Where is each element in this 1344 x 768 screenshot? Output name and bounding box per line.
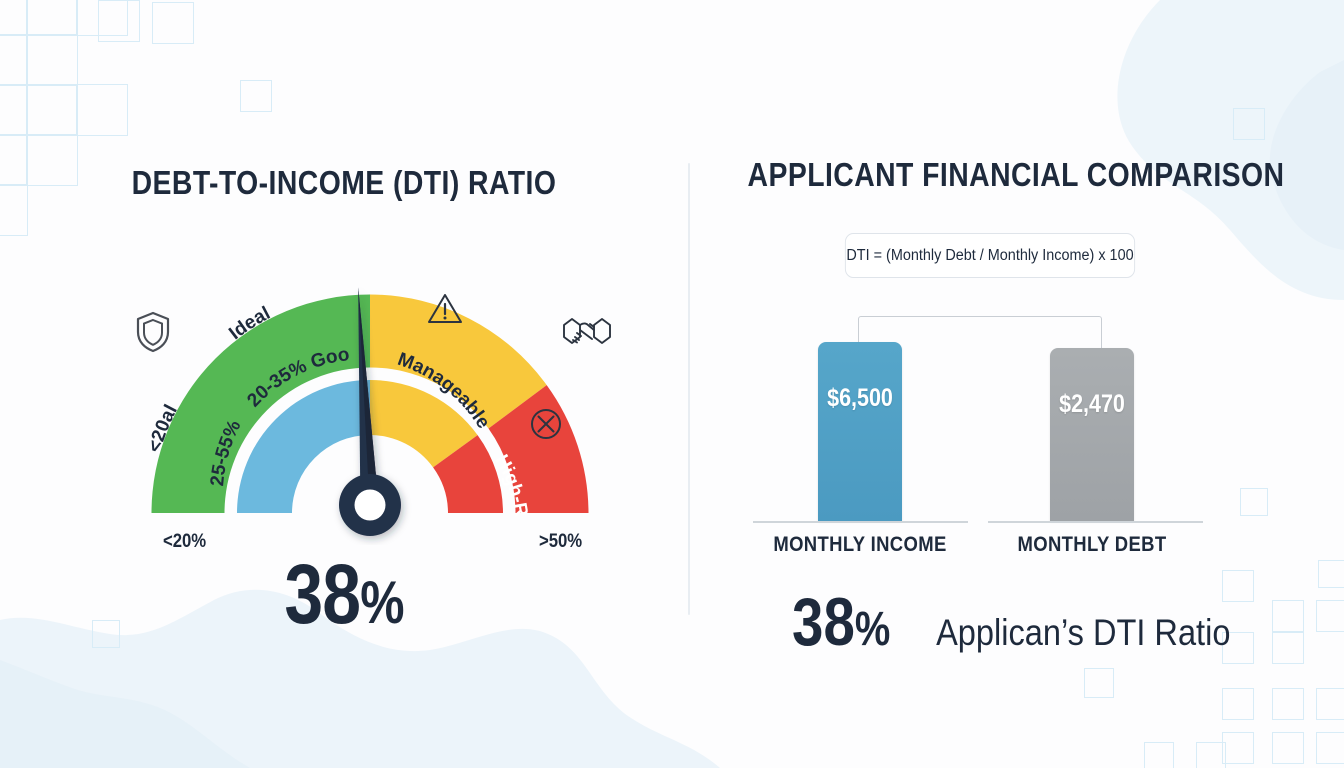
category-label-monthly-income: MONTHLY INCOME [759, 533, 961, 557]
dti-formula-text: DTI = (Monthly Debt / Monthly Income) x … [846, 247, 1133, 265]
deco-square [1240, 488, 1268, 516]
deco-square [0, 134, 28, 186]
deco-square [1272, 688, 1304, 720]
deco-square [1084, 668, 1114, 698]
financial-comparison-chart: $6,500 $2,470 MONTHLY INCOME MONTHLY DEB… [745, 305, 1215, 565]
axis-line-income [753, 521, 968, 523]
deco-square [1196, 742, 1226, 768]
gauge-scale-min: <20% [163, 531, 206, 553]
dti-gauge: <20al Ideal 25-55% 20-35% Good Manageabl… [120, 255, 620, 545]
infographic-canvas: DEBT-TO-INCOME (DTI) RATIO [0, 0, 1344, 768]
deco-square [1222, 732, 1254, 764]
bar-value-monthly-income: $6,500 [824, 384, 896, 413]
gauge-value-number: 38 [284, 547, 360, 641]
deco-square [0, 0, 28, 36]
dti-formula-pill: DTI = (Monthly Debt / Monthly Income) x … [845, 233, 1135, 278]
deco-square [1316, 732, 1344, 764]
bar-monthly-debt: $2,470 [1050, 348, 1134, 521]
axis-line-debt [988, 521, 1203, 523]
footer-dti-value: 38 [792, 584, 855, 660]
gauge-value-readout: 38% [58, 552, 629, 636]
deco-square [1318, 560, 1344, 588]
deco-square [0, 0, 78, 36]
gauge-scale-max: >50% [539, 531, 582, 553]
deco-square [240, 80, 272, 112]
deco-square [1272, 732, 1304, 764]
deco-square [0, 184, 28, 236]
deco-square [76, 0, 128, 36]
bar-monthly-income: $6,500 [818, 342, 902, 521]
deco-square [1233, 108, 1265, 140]
page-title-gauge: DEBT-TO-INCOME (DTI) RATIO [48, 164, 640, 202]
footer-dti-percent: % [854, 603, 889, 656]
deco-square [0, 34, 28, 86]
deco-square [26, 0, 78, 36]
gauge-value-percent: % [360, 569, 403, 636]
deco-square [1222, 688, 1254, 720]
deco-square [98, 0, 140, 42]
deco-square [1144, 742, 1174, 768]
deco-square [76, 84, 128, 136]
footer-dti-number: 38% [792, 588, 890, 656]
panel-divider [688, 163, 690, 615]
deco-square [26, 84, 78, 136]
gauge-hub-center [355, 490, 386, 521]
bar-value-monthly-debt: $2,470 [1056, 390, 1128, 419]
deco-square [0, 84, 28, 136]
gauge-svg: <20al Ideal 25-55% 20-35% Good Manageabl… [120, 255, 620, 545]
page-title-comparison: APPLICANT FINANCIAL COMPARISON [734, 156, 1298, 194]
footer-dti-caption: Applican’s DTI Ratio [936, 614, 1230, 651]
deco-square [152, 2, 194, 44]
deco-square [1316, 688, 1344, 720]
dti-footer-stat: 38% Applican’s DTI Ratio [688, 588, 1344, 656]
category-label-monthly-debt: MONTHLY DEBT [991, 533, 1193, 557]
deco-square [26, 34, 78, 86]
